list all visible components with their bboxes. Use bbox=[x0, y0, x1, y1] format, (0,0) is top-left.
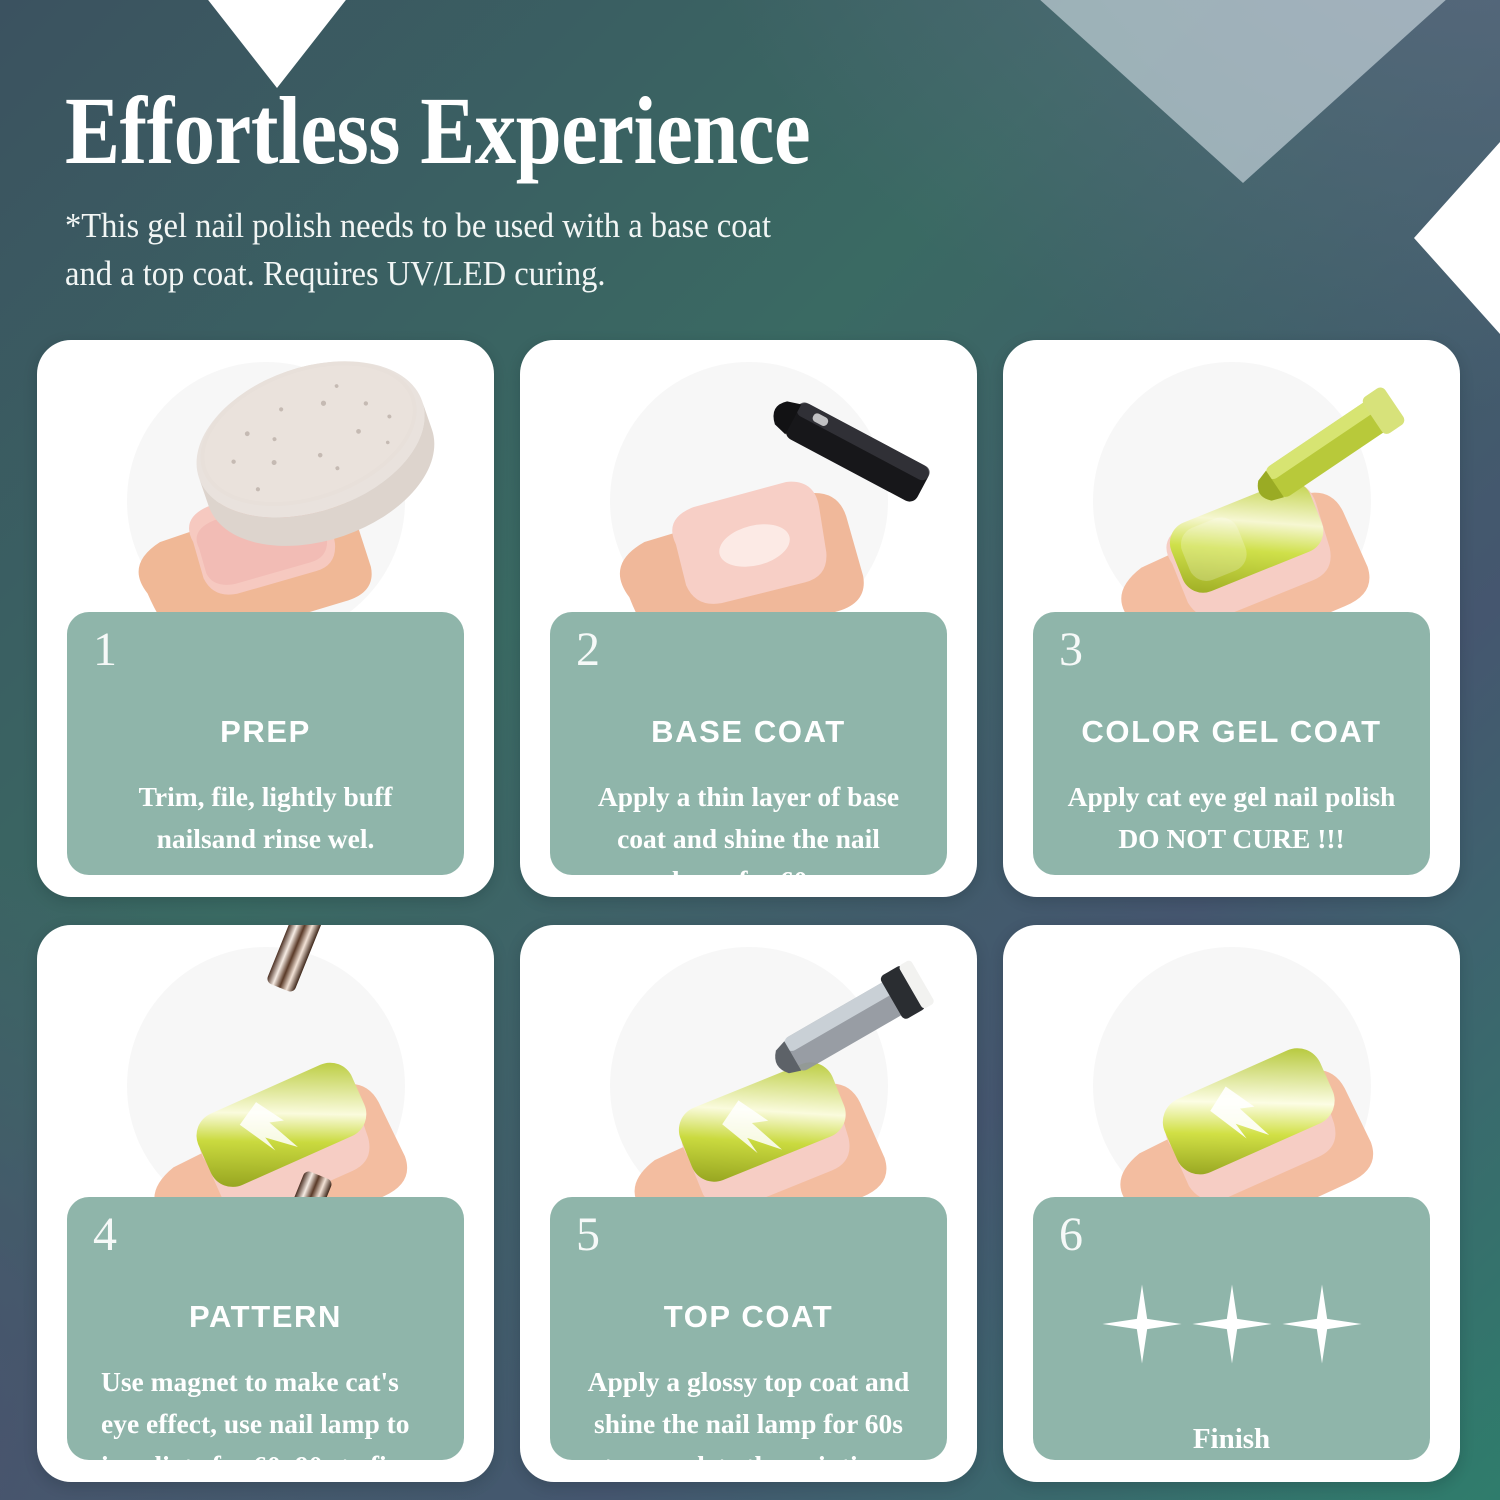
step-title: PATTERN bbox=[93, 1299, 438, 1335]
step-body: Trim, file, lightly buff nailsand rinse … bbox=[93, 776, 438, 860]
step-title: BASE COAT bbox=[576, 714, 921, 750]
step-card-6[interactable]: 6 Finish bbox=[1003, 925, 1460, 1482]
step-title: PREP bbox=[93, 714, 438, 750]
step-card-1[interactable]: 1 PREP Trim, file, lightly buff nailsand… bbox=[37, 340, 494, 897]
photo-finished-cat-eye-nail bbox=[1093, 947, 1371, 1225]
step-card-2[interactable]: 2 BASE COAT Apply a thin layer of base c… bbox=[520, 340, 977, 897]
infographic-canvas: Effortless Experience *This gel nail pol… bbox=[0, 0, 1500, 1500]
step-body: Apply cat eye gel nail polish DO NOT CUR… bbox=[1059, 776, 1404, 860]
steps-grid: 1 PREP Trim, file, lightly buff nailsand… bbox=[37, 340, 1465, 1482]
step-number: 4 bbox=[93, 1211, 117, 1259]
step-panel-4: 4 PATTERN Use magnet to make cat's eye e… bbox=[67, 1197, 464, 1460]
step-number: 5 bbox=[576, 1211, 600, 1259]
header: Effortless Experience *This gel nail pol… bbox=[65, 82, 1105, 299]
step-body: Apply a glossy top coat and shine the na… bbox=[576, 1361, 921, 1482]
sparkle-icons-group bbox=[1059, 1281, 1404, 1367]
photo-black-brush-applicator bbox=[610, 362, 888, 640]
decorative-white-chevron-icon bbox=[1414, 142, 1500, 334]
step-number: 1 bbox=[93, 626, 117, 674]
step-card-5[interactable]: 5 TOP COAT Apply a glossy top coat and s… bbox=[520, 925, 977, 1482]
photo-green-gel-brush bbox=[1093, 362, 1371, 640]
step-panel-2: 2 BASE COAT Apply a thin layer of base c… bbox=[550, 612, 947, 875]
step-number: 6 bbox=[1059, 1211, 1083, 1259]
step-card-3[interactable]: 3 COLOR GEL COAT Apply cat eye gel nail … bbox=[1003, 340, 1460, 897]
step-card-4[interactable]: 4 PATTERN Use magnet to make cat's eye e… bbox=[37, 925, 494, 1482]
step-number: 2 bbox=[576, 626, 600, 674]
sparkle-icon bbox=[1099, 1281, 1185, 1367]
step-panel-5: 5 TOP COAT Apply a glossy top coat and s… bbox=[550, 1197, 947, 1460]
photo-clear-top-coat-brush bbox=[610, 947, 888, 1225]
step-title: COLOR GEL COAT bbox=[1059, 714, 1404, 750]
sparkle-icon bbox=[1189, 1281, 1275, 1367]
step-panel-6: 6 Finish bbox=[1033, 1197, 1430, 1460]
step-title: TOP COAT bbox=[576, 1299, 921, 1335]
photo-magnet-bars-cat-eye-nail bbox=[127, 947, 405, 1225]
step-body: Use magnet to make cat's eye effect, use… bbox=[93, 1361, 438, 1482]
step-panel-1: 1 PREP Trim, file, lightly buff nailsand… bbox=[67, 612, 464, 875]
photo-nail-buffer-file bbox=[127, 362, 405, 640]
decorative-white-triangle-icon bbox=[205, 0, 349, 88]
step-body: Apply a thin layer of base coat and shin… bbox=[576, 776, 921, 897]
step-panel-3: 3 COLOR GEL COAT Apply cat eye gel nail … bbox=[1033, 612, 1430, 875]
step-number: 3 bbox=[1059, 626, 1083, 674]
page-subtitle: *This gel nail polish needs to be used w… bbox=[65, 202, 1032, 299]
page-title: Effortless Experience bbox=[65, 82, 959, 180]
sparkle-icon bbox=[1279, 1281, 1365, 1367]
finish-label: Finish bbox=[1059, 1423, 1404, 1456]
